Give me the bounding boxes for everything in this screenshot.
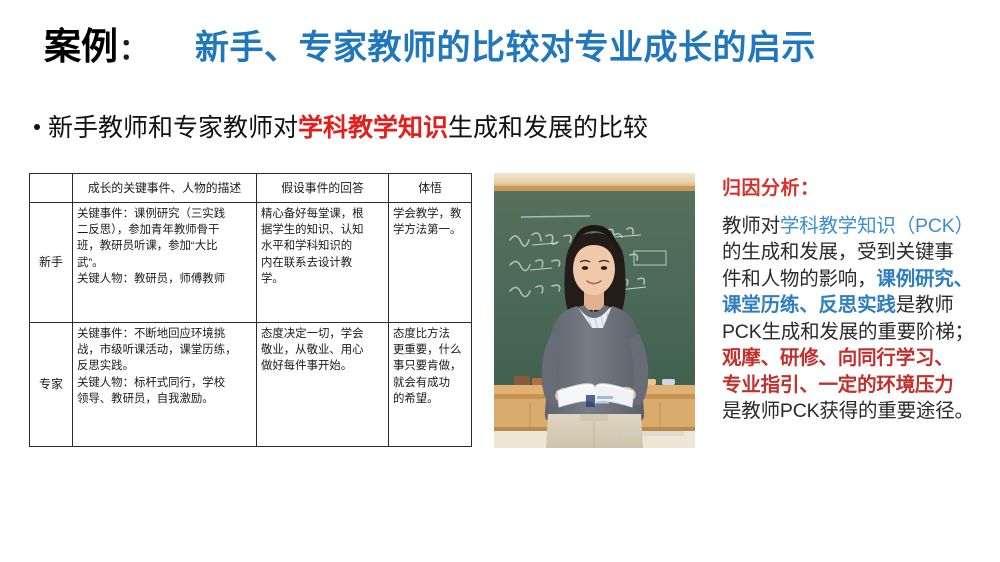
analysis-segment: 观摩、研修、向同行学习、 <box>722 347 954 369</box>
cell-line: 学会教学，教 <box>393 206 467 222</box>
table-header-insight: 体悟 <box>389 174 472 203</box>
cell-line: 领导、教研员，自我激励。 <box>77 391 252 407</box>
analysis-segment: 是教师PCK获得的重要途径。 <box>722 400 974 422</box>
cell-line: 事只要肯做， <box>393 358 467 374</box>
row-role-expert: 专家 <box>30 323 73 447</box>
analysis-line: 的生成和发展，受到关键事 <box>722 239 998 266</box>
table-header-corner <box>30 174 73 203</box>
cell-line: 关键人物：标杆式同行，学校 <box>77 375 252 391</box>
cell-line: 班，教研员听课，参加“大比 <box>77 238 252 254</box>
page-title: 案例 ： 新手、专家教师的比较对专业成长的启示 <box>44 16 816 70</box>
analysis-body: 教师对学科教学知识（PCK）的生成和发展，受到关键事件和人物的影响，课例研究、课… <box>722 213 998 425</box>
analysis-line: 是教师PCK获得的重要途径。 <box>722 398 998 425</box>
attribution-analysis-panel: 归因分析： 教师对学科教学知识（PCK）的生成和发展，受到关键事件和人物的影响，… <box>722 178 998 425</box>
cell-line: 反思实践。 <box>77 358 252 374</box>
bullet-text-highlight: 学科教学知识 <box>298 108 448 144</box>
slide-canvas: 案例 ： 新手、专家教师的比较对专业成长的启示 新手教师和专家教师对 学科教学知… <box>0 0 1000 562</box>
cell-line: 的希望。 <box>393 391 467 407</box>
table-row: 新手 关键事件：课例研究（三实践 二反思），参加青年教师骨干 班，教研员听课，参… <box>30 203 472 323</box>
cell-line: 水平和学科知识的 <box>261 238 384 254</box>
teacher-photo <box>494 173 695 448</box>
cell-line: 学方法第一。 <box>393 222 467 238</box>
cell-line: 武”。 <box>77 255 252 271</box>
cell-line: 态度决定一切，学会 <box>261 326 384 342</box>
analysis-line: 观摩、研修、向同行学习、 <box>722 345 998 372</box>
bullet-text-before: 新手教师和专家教师对 <box>48 108 298 144</box>
table-header-events: 成长的关键事件、人物的描述 <box>73 174 257 203</box>
analysis-line: 件和人物的影响，课例研究、 <box>722 266 998 293</box>
analysis-segment: 是教师 <box>896 294 954 316</box>
cell-line: 二反思），参加青年教师骨干 <box>77 222 252 238</box>
cell-line: 关键事件：不断地回应环境挑 <box>77 326 252 342</box>
cell-line: 精心备好每堂课，根 <box>261 206 384 222</box>
cell-line: 就会有成功 <box>393 375 467 391</box>
analysis-segment: PCK生成和发展的重要阶梯； <box>722 321 974 343</box>
analysis-heading: 归因分析： <box>722 178 998 201</box>
analysis-line: 专业指引、一定的环境压力 <box>722 372 998 399</box>
cell-insight-expert: 态度比方法 更重要，什么 事只要肯做， 就会有成功 的希望。 <box>389 323 472 447</box>
analysis-segment: 学科教学知识（PCK） <box>780 215 974 237</box>
analysis-segment: 专业指引、一定的环境压力 <box>722 374 954 396</box>
cell-line: 内在联系去设计教 <box>261 255 384 271</box>
analysis-line: PCK生成和发展的重要阶梯； <box>722 319 998 346</box>
cell-insight-novice: 学会教学，教 学方法第一。 <box>389 203 472 323</box>
analysis-line: 课堂历练、反思实践是教师 <box>722 292 998 319</box>
bullet-line: 新手教师和专家教师对 学科教学知识 生成和发展的比较 <box>34 108 648 144</box>
title-main: 新手、专家教师的比较对专业成长的启示 <box>195 20 816 69</box>
title-prefix: 案例 <box>44 16 118 70</box>
cell-line: 更重要，什么 <box>393 342 467 358</box>
analysis-segment: 课堂历练、反思实践 <box>722 294 896 316</box>
cell-line: 学。 <box>261 271 384 287</box>
table-row: 专家 关键事件：不断地回应环境挑 战，市级听课活动，课堂历练， 反思实践。 关键… <box>30 323 472 447</box>
cell-events-expert: 关键事件：不断地回应环境挑 战，市级听课活动，课堂历练， 反思实践。 关键人物：… <box>73 323 257 447</box>
cell-line: 态度比方法 <box>393 326 467 342</box>
row-role-novice: 新手 <box>30 203 73 323</box>
cell-answer-novice: 精心备好每堂课，根 据学生的知识、认知 水平和学科知识的 内在联系去设计教 学。 <box>257 203 389 323</box>
cell-line: 关键事件：课例研究（三实践 <box>77 206 252 222</box>
cell-events-novice: 关键事件：课例研究（三实践 二反思），参加青年教师骨干 班，教研员听课，参加“大… <box>73 203 257 323</box>
table-header-answer: 假设事件的回答 <box>257 174 389 203</box>
analysis-line: 教师对学科教学知识（PCK） <box>722 213 998 240</box>
bullet-text-after: 生成和发展的比较 <box>448 108 648 144</box>
cell-answer-expert: 态度决定一切，学会 敬业，从敬业、用心 做好每件事开始。 <box>257 323 389 447</box>
bullet-marker-icon <box>34 124 40 130</box>
cell-line: 关键人物：教研员，师傅教师 <box>77 271 252 287</box>
analysis-segment: 课例研究、 <box>876 268 973 290</box>
cell-line: 做好每件事开始。 <box>261 358 384 374</box>
cell-line: 战，市级听课活动，课堂历练， <box>77 342 252 358</box>
analysis-segment: 的生成和发展，受到关键事 <box>722 241 954 263</box>
title-colon: ： <box>119 26 148 68</box>
cell-line: 敬业，从敬业、用心 <box>261 342 384 358</box>
teacher-photo-illustration <box>494 173 695 448</box>
analysis-segment: 件和人物的影响， <box>722 268 876 290</box>
analysis-segment: 教师对 <box>722 215 780 237</box>
table-header-row: 成长的关键事件、人物的描述 假设事件的回答 体悟 <box>30 174 472 203</box>
cell-line: 据学生的知识、认知 <box>261 222 384 238</box>
comparison-table: 成长的关键事件、人物的描述 假设事件的回答 体悟 新手 关键事件：课例研究（三实… <box>29 173 472 447</box>
